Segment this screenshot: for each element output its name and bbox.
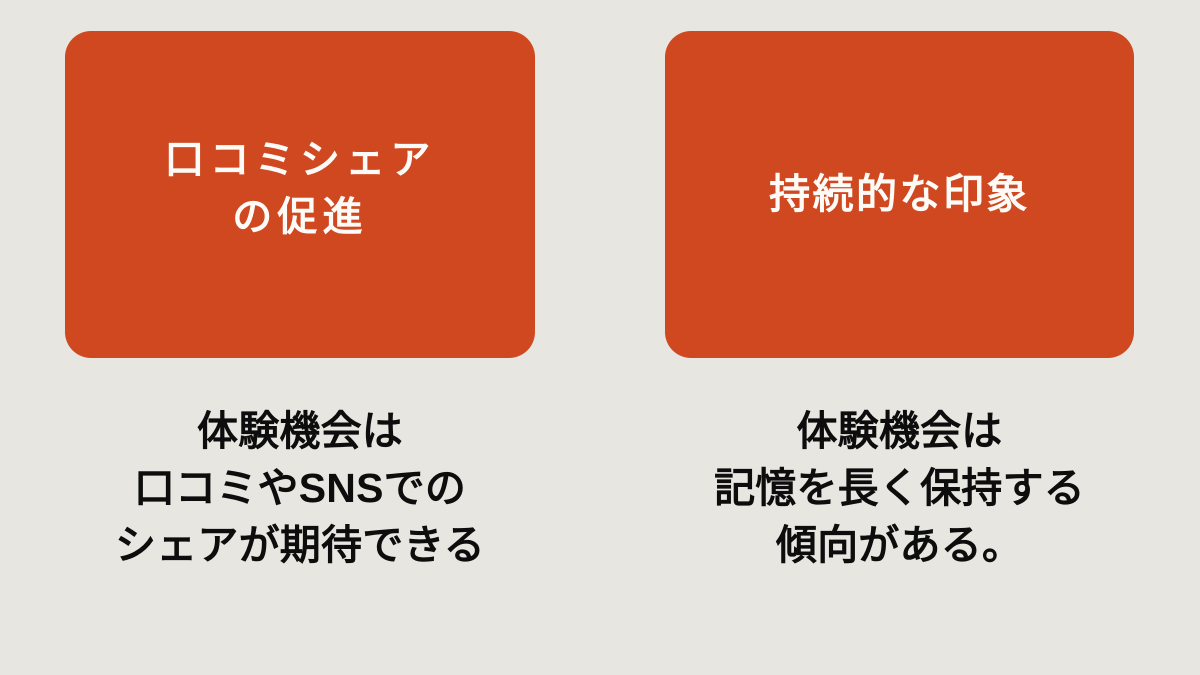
card-title-word-of-mouth-share: 口コミシェア の促進: [150, 132, 449, 246]
two-column-layout: 口コミシェア の促進 体験機会は 口コミやSNSでの シェアが期待できる 持続的…: [0, 0, 1200, 675]
caption-lasting-impression: 体験機会は 記憶を長く保持する 傾向がある。: [714, 358, 1085, 574]
caption-word-of-mouth-share: 体験機会は 口コミやSNSでの シェアが期待できる: [115, 358, 485, 574]
card-title-lasting-impression: 持続的な印象: [755, 165, 1044, 223]
card-lasting-impression[interactable]: 持続的な印象: [665, 31, 1134, 358]
column-word-of-mouth-share: 口コミシェア の促進 体験機会は 口コミやSNSでの シェアが期待できる: [0, 0, 600, 574]
slide-canvas: 口コミシェア の促進 体験機会は 口コミやSNSでの シェアが期待できる 持続的…: [0, 0, 1200, 675]
card-word-of-mouth-share[interactable]: 口コミシェア の促進: [65, 31, 535, 358]
column-lasting-impression: 持続的な印象 体験機会は 記憶を長く保持する 傾向がある。: [600, 0, 1200, 574]
